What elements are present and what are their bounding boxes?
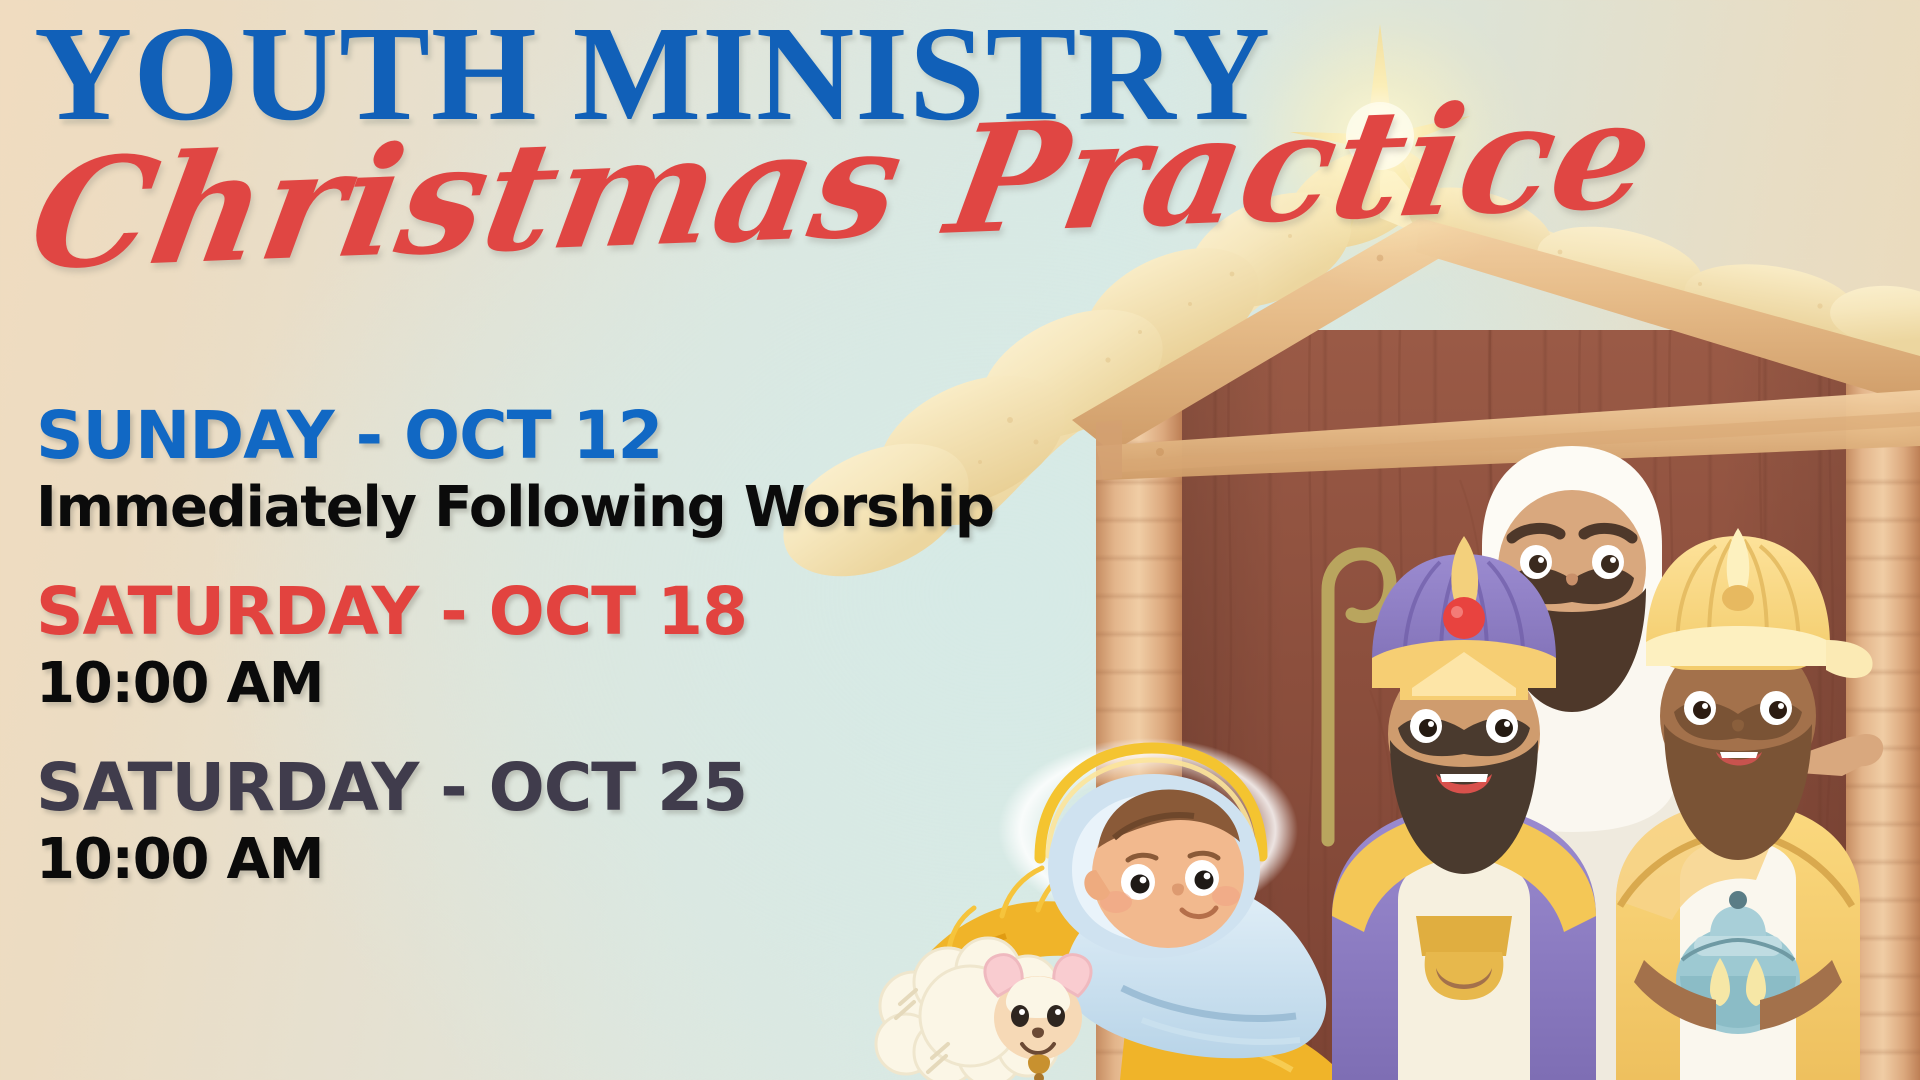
poster-title: YOUTH MINISTRY Christmas Practice [34,6,1364,142]
schedule-heading-2: SATURDAY - OCT 18 [36,576,966,647]
shepherd-crook-icon [1328,554,1390,840]
schedule-item-3: SATURDAY - OCT 25 10:00 AM [36,752,966,892]
poster-text-column: YOUTH MINISTRY Christmas Practice SUNDAY… [0,0,1000,1080]
schedule-list: SUNDAY - OCT 12 Immediately Following Wo… [36,400,966,892]
schedule-item-2: SATURDAY - OCT 18 10:00 AM [36,576,966,716]
schedule-item-1: SUNDAY - OCT 12 Immediately Following Wo… [36,400,966,540]
schedule-detail-2: 10:00 AM [36,653,966,716]
schedule-detail-3: 10:00 AM [36,829,966,892]
nativity-figures [1286,340,1920,1080]
schedule-heading-1: SUNDAY - OCT 12 [36,400,966,471]
schedule-detail-1: Immediately Following Worship [36,477,966,540]
schedule-heading-3: SATURDAY - OCT 25 [36,752,966,823]
